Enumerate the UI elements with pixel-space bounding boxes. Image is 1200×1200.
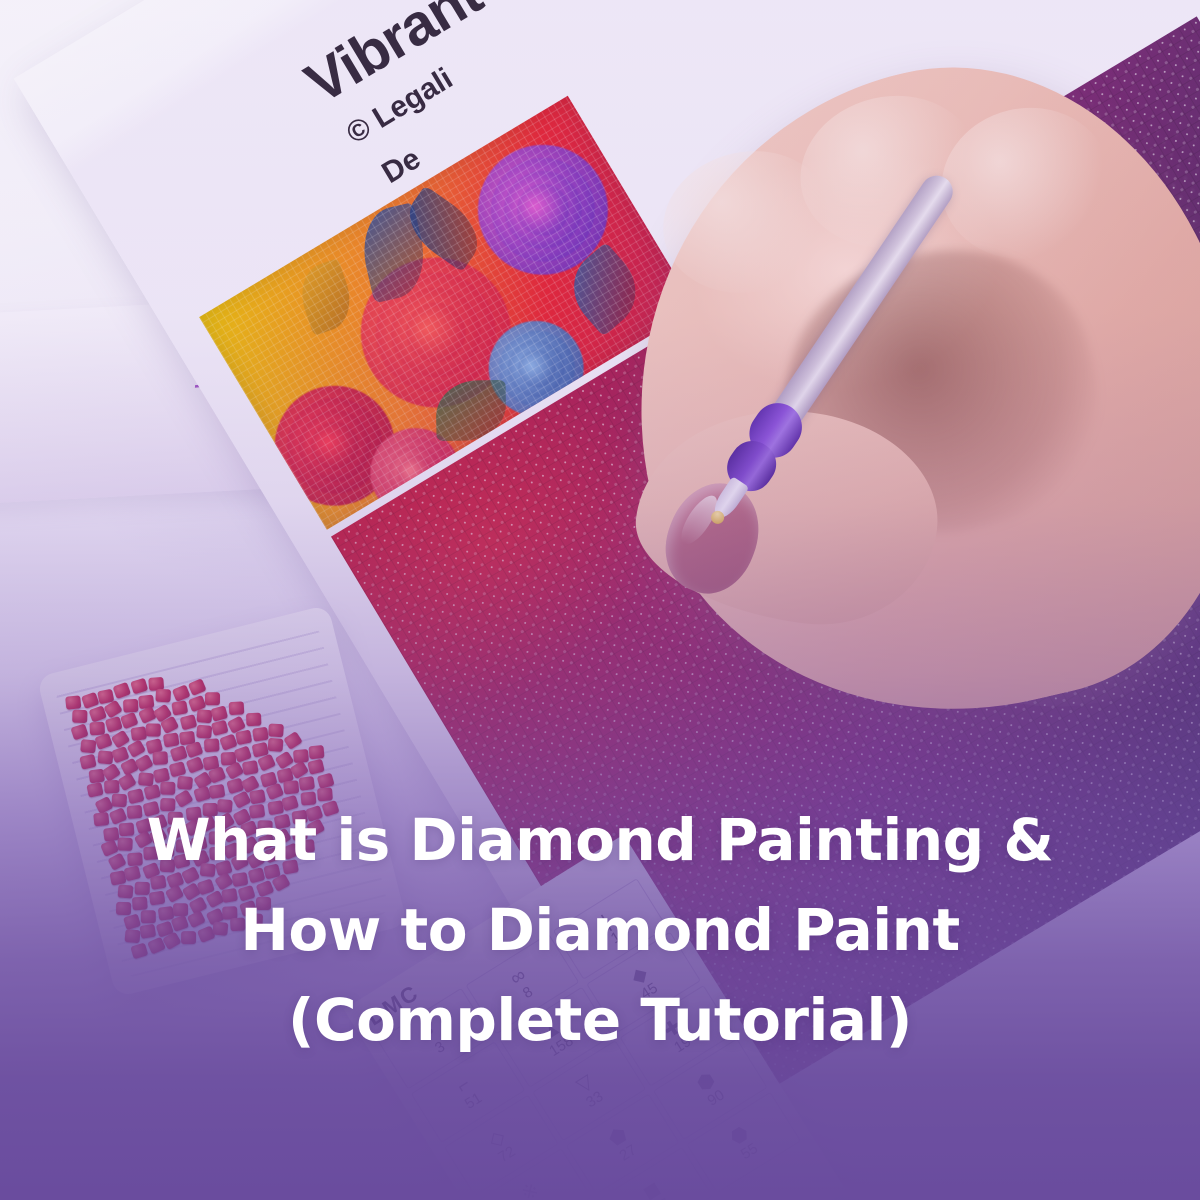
headline-line-2: How to Diamond Paint [60,885,1140,975]
headline-line-3: (Complete Tutorial) [60,975,1140,1065]
hero-image: Dreamer DESIGNS Vibrant R © Legali De Ma… [0,0,1200,1200]
headline-line-1: What is Diamond Painting & [60,795,1140,885]
headline: What is Diamond Painting & How to Diamon… [0,795,1200,1065]
